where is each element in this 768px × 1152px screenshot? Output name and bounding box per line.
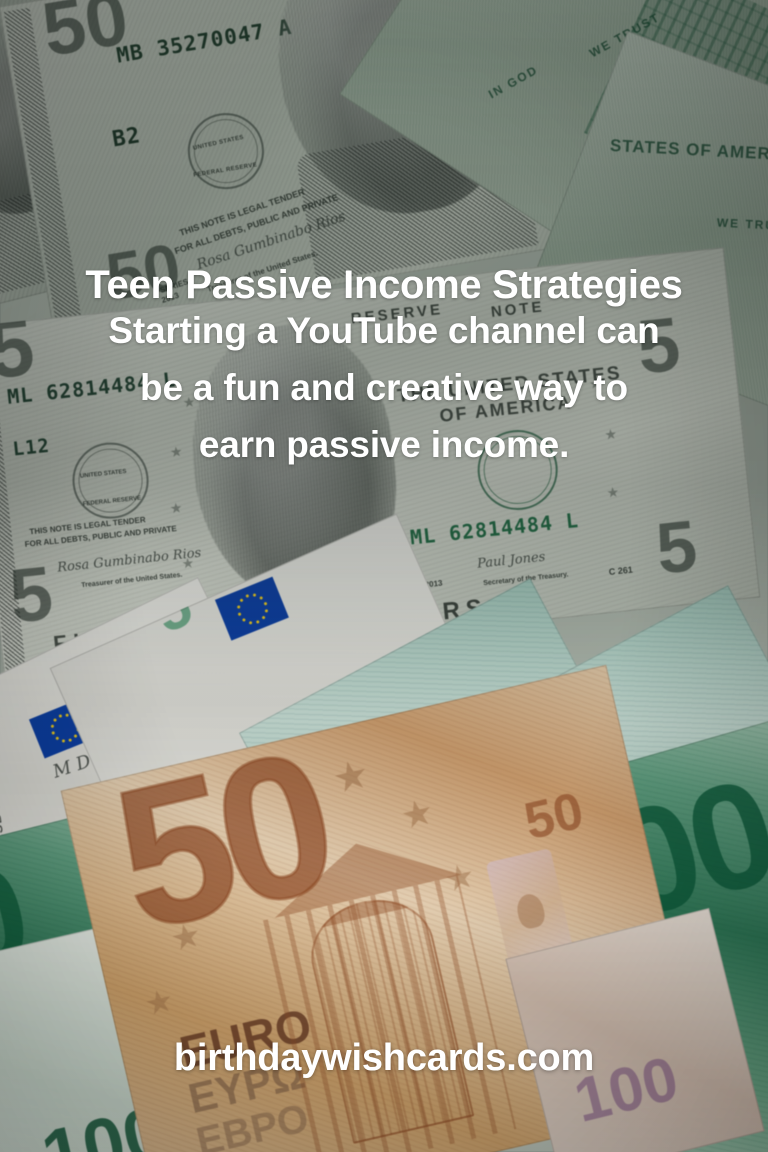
pin-subtitle-line-1: Starting a YouTube channel can: [48, 302, 720, 359]
pin-subtitle-line-3: earn passive income.: [48, 416, 720, 473]
pin-subtitle: Starting a YouTube channel can be a fun …: [48, 302, 720, 473]
pin-subtitle-line-2: be a fun and creative way to: [48, 359, 720, 416]
pinterest-pin-graphic: 50 MB 35270047 A B2 UNITED STATES FEDERA…: [0, 0, 768, 1152]
text-overlay: Teen Passive Income Strategies Starting …: [0, 0, 768, 1152]
website-url-footer[interactable]: birthdaywishcards.com: [0, 1035, 768, 1081]
